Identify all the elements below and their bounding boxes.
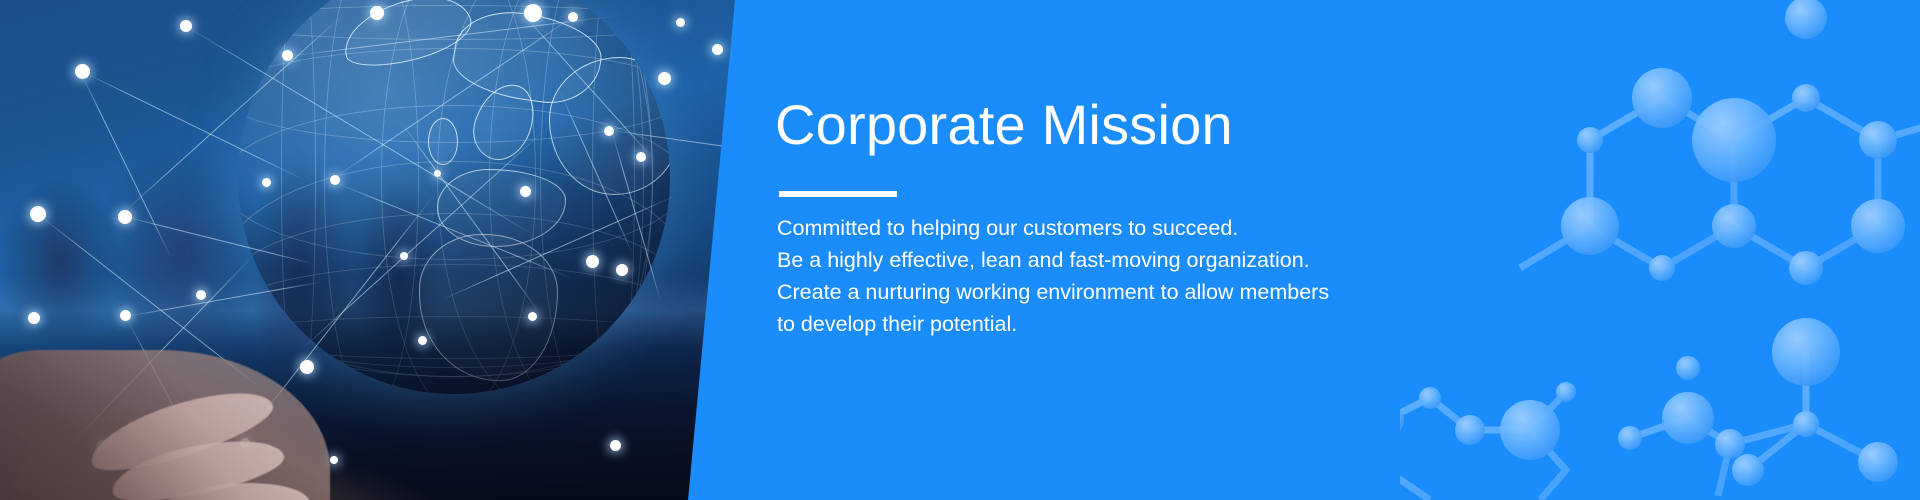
network-node (528, 312, 537, 321)
title-underline-rule (779, 191, 897, 197)
mission-line: Create a nurturing working environment t… (777, 276, 1417, 308)
network-node (118, 210, 132, 224)
network-node (330, 175, 340, 185)
network-node (400, 252, 408, 260)
mission-line: Be a highly effective, lean and fast-mov… (777, 244, 1417, 276)
network-node (610, 440, 621, 451)
network-node (180, 20, 192, 32)
network-node (434, 170, 441, 177)
network-node (636, 152, 646, 162)
mission-line: Committed to helping our customers to su… (777, 212, 1417, 244)
network-node (282, 50, 293, 61)
network-node (712, 44, 723, 55)
network-node (676, 18, 685, 27)
network-node (120, 310, 131, 321)
network-node (524, 4, 542, 22)
corporate-mission-banner: Corporate Mission Committed to helping o… (0, 0, 1920, 500)
globe-network-photo (0, 0, 780, 500)
mission-statement: Committed to helping our customers to su… (777, 212, 1417, 340)
mission-content: Corporate Mission Committed to helping o… (775, 0, 1475, 500)
network-node (658, 72, 671, 85)
page-title: Corporate Mission (775, 96, 1233, 155)
network-node (604, 126, 614, 136)
network-node (586, 255, 599, 268)
mission-line: to develop their potential. (777, 308, 1417, 340)
network-node (262, 178, 271, 187)
network-node (520, 186, 531, 197)
network-node (30, 206, 46, 222)
network-node (75, 64, 90, 79)
network-node (370, 6, 384, 20)
network-node (196, 290, 206, 300)
network-node (28, 312, 40, 324)
network-node (418, 336, 427, 345)
molecule-pattern (1400, 0, 1920, 500)
network-node (300, 360, 314, 374)
network-node (330, 456, 338, 464)
network-node (568, 12, 578, 22)
network-node (616, 264, 628, 276)
